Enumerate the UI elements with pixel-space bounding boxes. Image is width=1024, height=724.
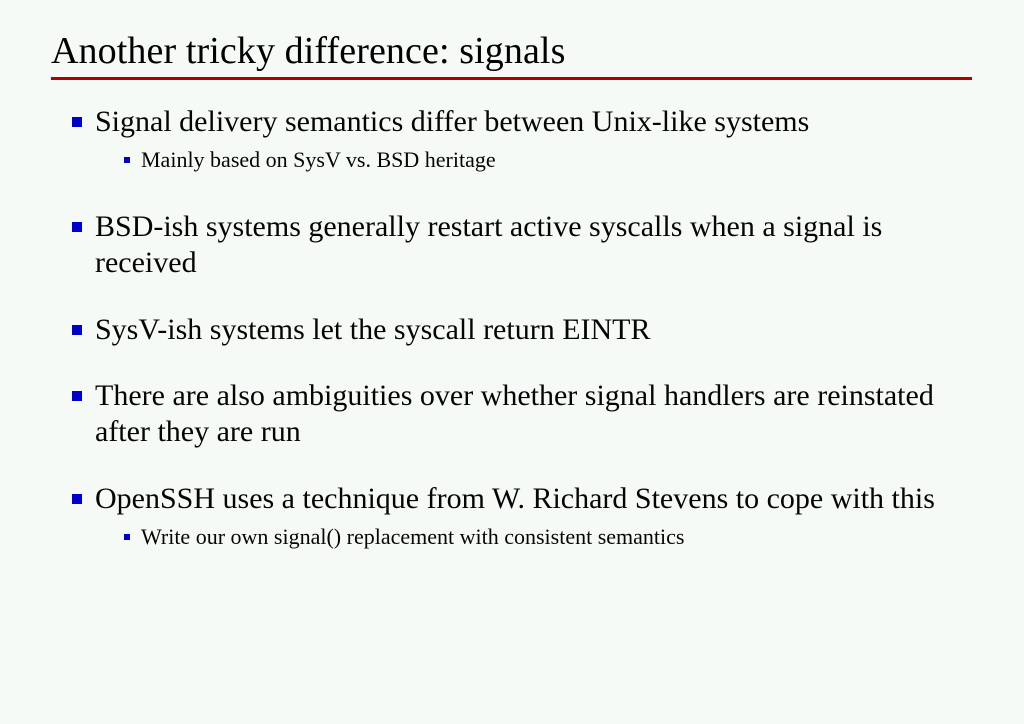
bullet-group: Signal delivery semantics differ between… <box>0 104 1024 178</box>
bullet-item-level1: Signal delivery semantics differ between… <box>0 104 1024 140</box>
spacer <box>0 281 1024 312</box>
slide-title-block: Another tricky difference: signals <box>51 28 972 80</box>
bullet-item-level1: SysV-ish systems let the syscall return … <box>0 312 1024 348</box>
small-square-bullet-icon <box>124 157 130 163</box>
bullet-text: OpenSSH uses a technique from W. Richard… <box>95 481 964 517</box>
spacer <box>0 450 1024 481</box>
bullet-text: BSD-ish systems generally restart active… <box>95 209 964 281</box>
small-square-bullet-icon <box>124 534 130 540</box>
bullet-group: SysV-ish systems let the syscall return … <box>0 312 1024 348</box>
presentation-slide: Another tricky difference: signals Signa… <box>0 0 1024 724</box>
spacer <box>0 348 1024 378</box>
square-bullet-icon <box>72 325 82 335</box>
bullet-item-level2: Mainly based on SysV vs. BSD heritage <box>0 142 1024 178</box>
bullet-item-level1: There are also ambiguities over whether … <box>0 378 1024 450</box>
square-bullet-icon <box>72 494 82 504</box>
title-underline-rule <box>51 77 972 80</box>
bullet-group: BSD-ish systems generally restart active… <box>0 209 1024 281</box>
bullet-group: OpenSSH uses a technique from W. Richard… <box>0 481 1024 555</box>
bullet-text: SysV-ish systems let the syscall return … <box>95 312 964 348</box>
slide-body: Signal delivery semantics differ between… <box>0 104 1024 555</box>
bullet-text: Mainly based on SysV vs. BSD heritage <box>141 142 904 178</box>
bullet-text: Write our own signal() replacement with … <box>141 519 904 555</box>
bullet-item-level1: BSD-ish systems generally restart active… <box>0 209 1024 281</box>
bullet-group: There are also ambiguities over whether … <box>0 378 1024 450</box>
square-bullet-icon <box>72 222 82 232</box>
square-bullet-icon <box>72 391 82 401</box>
bullet-item-level2: Write our own signal() replacement with … <box>0 519 1024 555</box>
bullet-text: There are also ambiguities over whether … <box>95 378 964 450</box>
bullet-text: Signal delivery semantics differ between… <box>95 104 964 140</box>
page-title: Another tricky difference: signals <box>51 28 972 74</box>
bullet-item-level1: OpenSSH uses a technique from W. Richard… <box>0 481 1024 517</box>
square-bullet-icon <box>72 117 82 127</box>
spacer <box>0 178 1024 209</box>
